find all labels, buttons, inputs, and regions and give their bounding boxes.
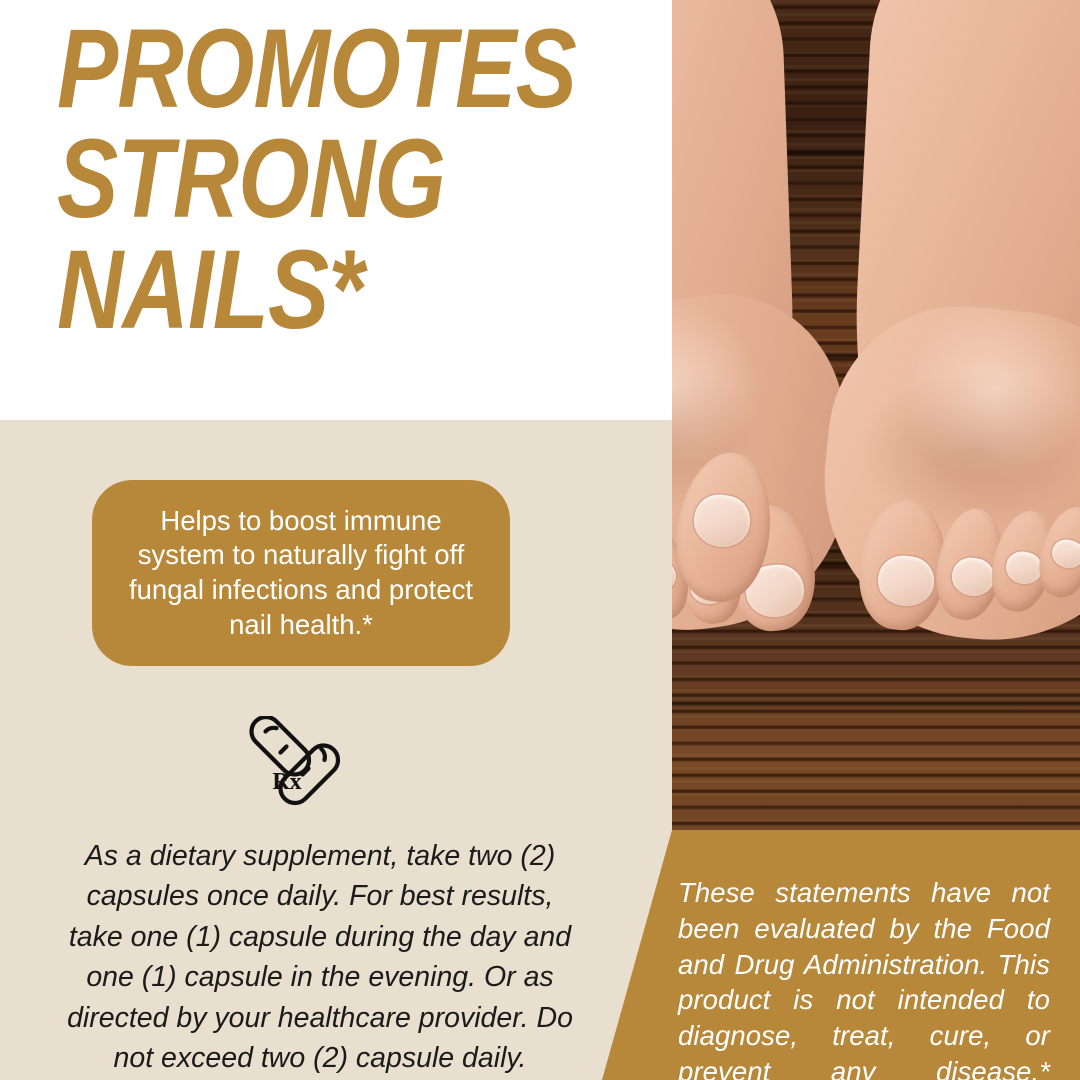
benefit-callout-card: Helps to boost immune system to naturall… bbox=[92, 480, 510, 666]
headline-line-2: STRONG bbox=[57, 124, 576, 234]
foot-highlight bbox=[900, 300, 1080, 480]
headline-line-3: NAILS* bbox=[57, 235, 576, 345]
page-title: PROMOTES STRONG NAILS* bbox=[57, 14, 576, 345]
rx-capsules-icon: Rx bbox=[242, 716, 348, 822]
supplement-promo-poster: These statements have not been evaluated… bbox=[0, 0, 1080, 1080]
benefit-callout-text: Helps to boost immune system to naturall… bbox=[92, 504, 510, 643]
fda-disclaimer-text: These statements have not been evaluated… bbox=[678, 875, 1050, 1080]
rx-label: Rx bbox=[272, 769, 301, 795]
headline-line-1: PROMOTES bbox=[57, 14, 576, 124]
directions-text: As a dietary supplement, take two (2) ca… bbox=[60, 836, 580, 1079]
